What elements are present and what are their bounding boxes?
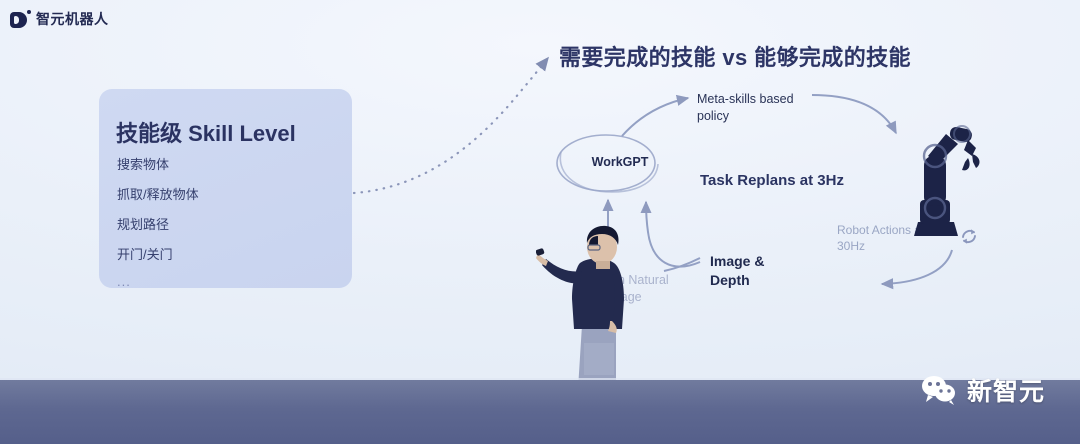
watermark: 新智元 — [920, 372, 1045, 408]
arrow-metaskills-to-robot — [812, 95, 896, 133]
wechat-icon — [920, 374, 960, 406]
node-workgpt-label: WorkGPT — [578, 155, 662, 169]
robot-arm-icon — [888, 104, 984, 240]
arrow-workgpt-to-metaskills — [622, 98, 688, 136]
dotted-connector-path — [354, 58, 548, 193]
stage-floor — [0, 380, 1080, 444]
arrow-robot-to-imagedepth — [882, 250, 952, 284]
label-task-replans: Task Replans at 3Hz — [700, 171, 844, 191]
watermark-text: 新智元 — [967, 372, 1045, 408]
label-meta-skills: Meta-skills based policy — [697, 91, 794, 125]
screenshot-root: 智元机器人 需要完成的技能 vs 能够完成的技能 技能级 Skill Level… — [0, 0, 1080, 444]
label-image-depth: Image & Depth — [710, 252, 764, 290]
